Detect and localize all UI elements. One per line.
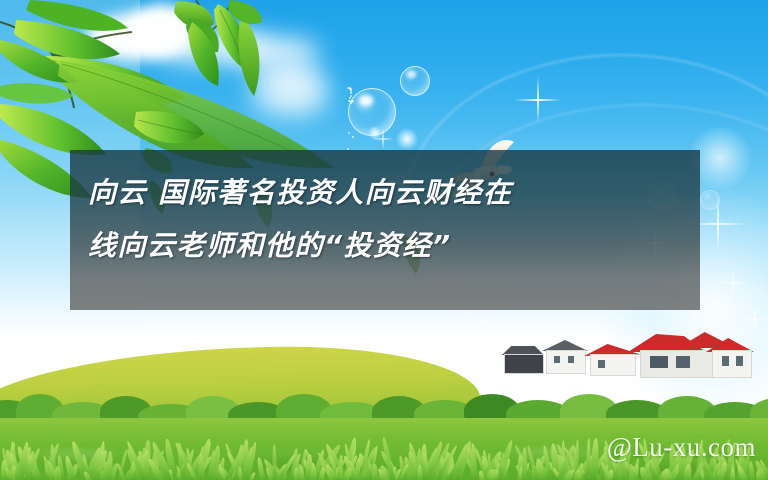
house-icon	[504, 354, 544, 374]
window-icon	[722, 356, 729, 366]
house-icon	[546, 350, 586, 374]
headline-line-2: 线向云老师和他的“投资经”	[88, 219, 682, 272]
grass-blade-icon	[371, 463, 377, 480]
house-icon	[712, 350, 752, 378]
grass-blade-icon	[273, 444, 278, 480]
watermark-text: @Lu-xu.com	[607, 432, 756, 463]
window-icon	[676, 356, 690, 368]
leaf-icon	[0, 83, 74, 103]
house-icon	[590, 354, 636, 376]
headline-line-1: 向云 国际著名投资人向云财经在	[88, 166, 682, 219]
houses-group	[500, 330, 768, 400]
window-icon	[650, 356, 668, 368]
grass-blade-icon	[522, 447, 527, 480]
leaf-icon	[239, 18, 260, 96]
window-icon	[598, 360, 605, 368]
headline-overlay-panel: 向云 国际著名投资人向云财经在 线向云老师和他的“投资经”	[70, 150, 700, 310]
window-icon	[736, 356, 743, 366]
headline-text: 向云 国际著名投资人向云财经在 线向云老师和他的“投资经”	[88, 166, 682, 272]
window-icon	[554, 356, 560, 363]
window-icon	[568, 356, 574, 363]
banner-image: 向云 国际著名投资人向云财经在 线向云老师和他的“投资经” @Lu-xu.com	[0, 0, 768, 480]
